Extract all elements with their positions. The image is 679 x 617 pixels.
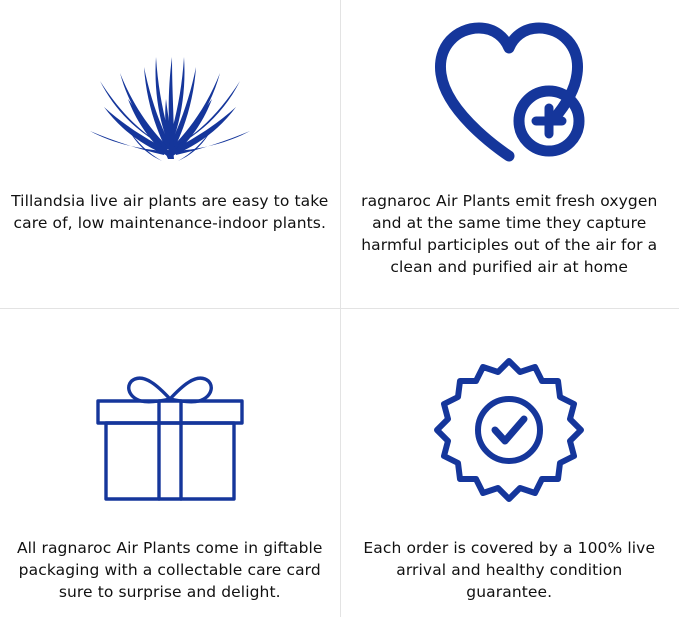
feature-cell-air-plant: Tillandsia live air plants are easy to t… <box>0 0 340 309</box>
feature-caption: ragnaroc Air Plants emit fresh oxygen an… <box>349 190 669 278</box>
heart-plus-icon <box>427 6 592 176</box>
feature-cell-gift: All ragnaroc Air Plants come in giftable… <box>0 309 340 617</box>
feature-caption: All ragnaroc Air Plants come in giftable… <box>15 537 325 603</box>
feature-cell-guarantee: Each order is covered by a 100% live arr… <box>340 309 679 617</box>
gift-box-icon <box>85 347 255 517</box>
feature-grid: Tillandsia live air plants are easy to t… <box>0 0 679 617</box>
air-plant-icon <box>80 6 260 176</box>
feature-caption: Tillandsia live air plants are easy to t… <box>11 190 329 234</box>
guarantee-badge-icon <box>434 347 584 517</box>
feature-cell-oxygen: ragnaroc Air Plants emit fresh oxygen an… <box>340 0 679 309</box>
feature-caption: Each order is covered by a 100% live arr… <box>353 537 665 603</box>
